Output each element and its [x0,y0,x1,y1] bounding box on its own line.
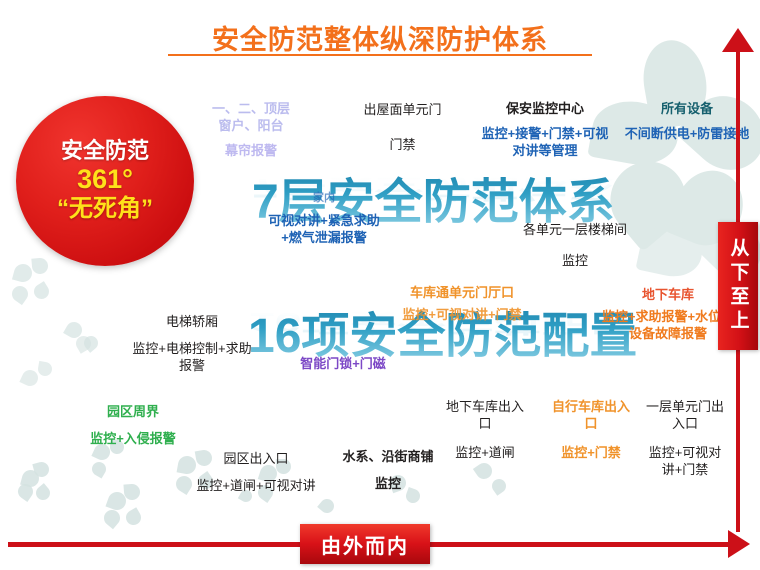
block-elevator-car: 电梯轿厢 监控+电梯控制+求助报警 [130,313,254,374]
block-underground-garage-head: 地下车库 [598,286,738,303]
block-windows-balcony-body: 幕帘报警 [190,142,312,159]
block-garage-to-lobby: 车库通单元门厅口 监控+可视对讲+门禁 [392,284,532,323]
block-park-perimeter-head: 园区周界 [68,403,198,420]
block-first-floor-unit-door-head: 一层单元门出入口 [644,398,726,432]
block-bike-garage-entrance-body: 监控+门禁 [552,444,630,461]
block-garage-entrance-body: 监控+道闸 [446,444,524,461]
block-security-center: 保安监控中心 监控+接警+门禁+可视对讲等管理 [478,100,612,159]
horizontal-arrow-head-icon [728,530,750,558]
block-first-floor-unit-door: 一层单元门出入口 监控+可视对讲+门禁 [644,398,726,479]
block-water-shops-body: 监控 [320,475,456,492]
block-garage-entrance: 地下车库出入口 监控+道闸 [446,398,524,461]
block-underground-garage: 地下车库 监控+求助报警+水位及设备故障报警 [598,286,738,342]
security-360-badge: 安全防范 361° “无死角” [16,96,194,266]
block-park-entrance-body: 监控+道闸+可视对讲 [196,477,316,494]
block-water-shops: 水系、沿街商铺 监控 [320,448,456,492]
vertical-arrow-label: 从下至上 [718,222,758,350]
block-in-home: 家内 可视对讲+紧急求助+燃气泄漏报警 [258,191,390,246]
block-park-entrance: 园区出入口 监控+道闸+可视对讲 [196,450,316,494]
block-unit-door-body: 门禁 [340,136,465,153]
page-title: 安全防范整体纵深防护体系 [0,18,760,57]
block-unit-door: 出屋面单元门 门禁 [340,101,465,153]
block-windows-balcony-head-2: 窗户、阳台 [190,117,312,134]
block-unit-stairwell-head: 各单元一层楼梯间 [500,221,650,238]
block-underground-garage-body: 监控+求助报警+水位及设备故障报警 [598,308,738,342]
block-unit-door-head: 出屋面单元门 [340,101,465,118]
block-unit-stairwell-body: 监控 [500,252,650,269]
block-park-entrance-head: 园区出入口 [196,450,316,467]
block-park-perimeter: 园区周界 监控+入侵报警 [68,403,198,447]
block-all-equipment: 所有设备 不间断供电+防雷接地 [624,100,750,142]
block-smart-lock: 智能门锁+门磁 [268,355,418,372]
block-security-center-body: 监控+接警+门禁+可视对讲等管理 [478,125,612,159]
block-windows-balcony-head-1: 一、二、顶层 [190,100,312,117]
block-garage-to-lobby-body: 监控+可视对讲+门禁 [392,306,532,323]
petal-cluster-left-top [4,250,124,370]
slide-canvas: 安全防范整体纵深防护体系 安全防范 361° “无死角” 7层安全防范体系 7层… [0,0,760,570]
badge-line-3: “无死角” [57,195,153,224]
block-windows-balcony: 一、二、顶层 窗户、阳台 幕帘报警 [190,100,312,159]
block-security-center-head: 保安监控中心 [478,100,612,117]
block-in-home-body: 可视对讲+紧急求助+燃气泄漏报警 [258,212,390,246]
block-first-floor-unit-door-body: 监控+可视对讲+门禁 [644,444,726,478]
block-unit-stairwell: 各单元一层楼梯间 监控 [500,221,650,269]
block-water-shops-head: 水系、沿街商铺 [320,448,456,465]
block-all-equipment-body: 不间断供电+防雷接地 [624,125,750,142]
block-all-equipment-head: 所有设备 [624,100,750,117]
badge-line-2: 361° [77,164,133,195]
vertical-arrow-label-text: 从下至上 [729,238,748,334]
title-underline [168,54,592,56]
block-garage-to-lobby-head: 车库通单元门厅口 [392,284,532,301]
horizontal-arrow-label: 由外而内 [300,524,430,564]
block-bike-garage-entrance: 自行车库出入口 监控+门禁 [552,398,630,461]
block-garage-entrance-head: 地下车库出入口 [446,398,524,432]
block-smart-lock-body: 智能门锁+门磁 [268,355,418,372]
block-park-perimeter-body: 监控+入侵报警 [68,430,198,447]
block-bike-garage-entrance-head: 自行车库出入口 [552,398,630,432]
block-elevator-car-head: 电梯轿厢 [130,313,254,330]
block-in-home-head: 家内 [258,191,390,206]
block-elevator-car-body: 监控+电梯控制+求助报警 [130,340,254,374]
badge-line-1: 安全防范 [61,138,149,163]
